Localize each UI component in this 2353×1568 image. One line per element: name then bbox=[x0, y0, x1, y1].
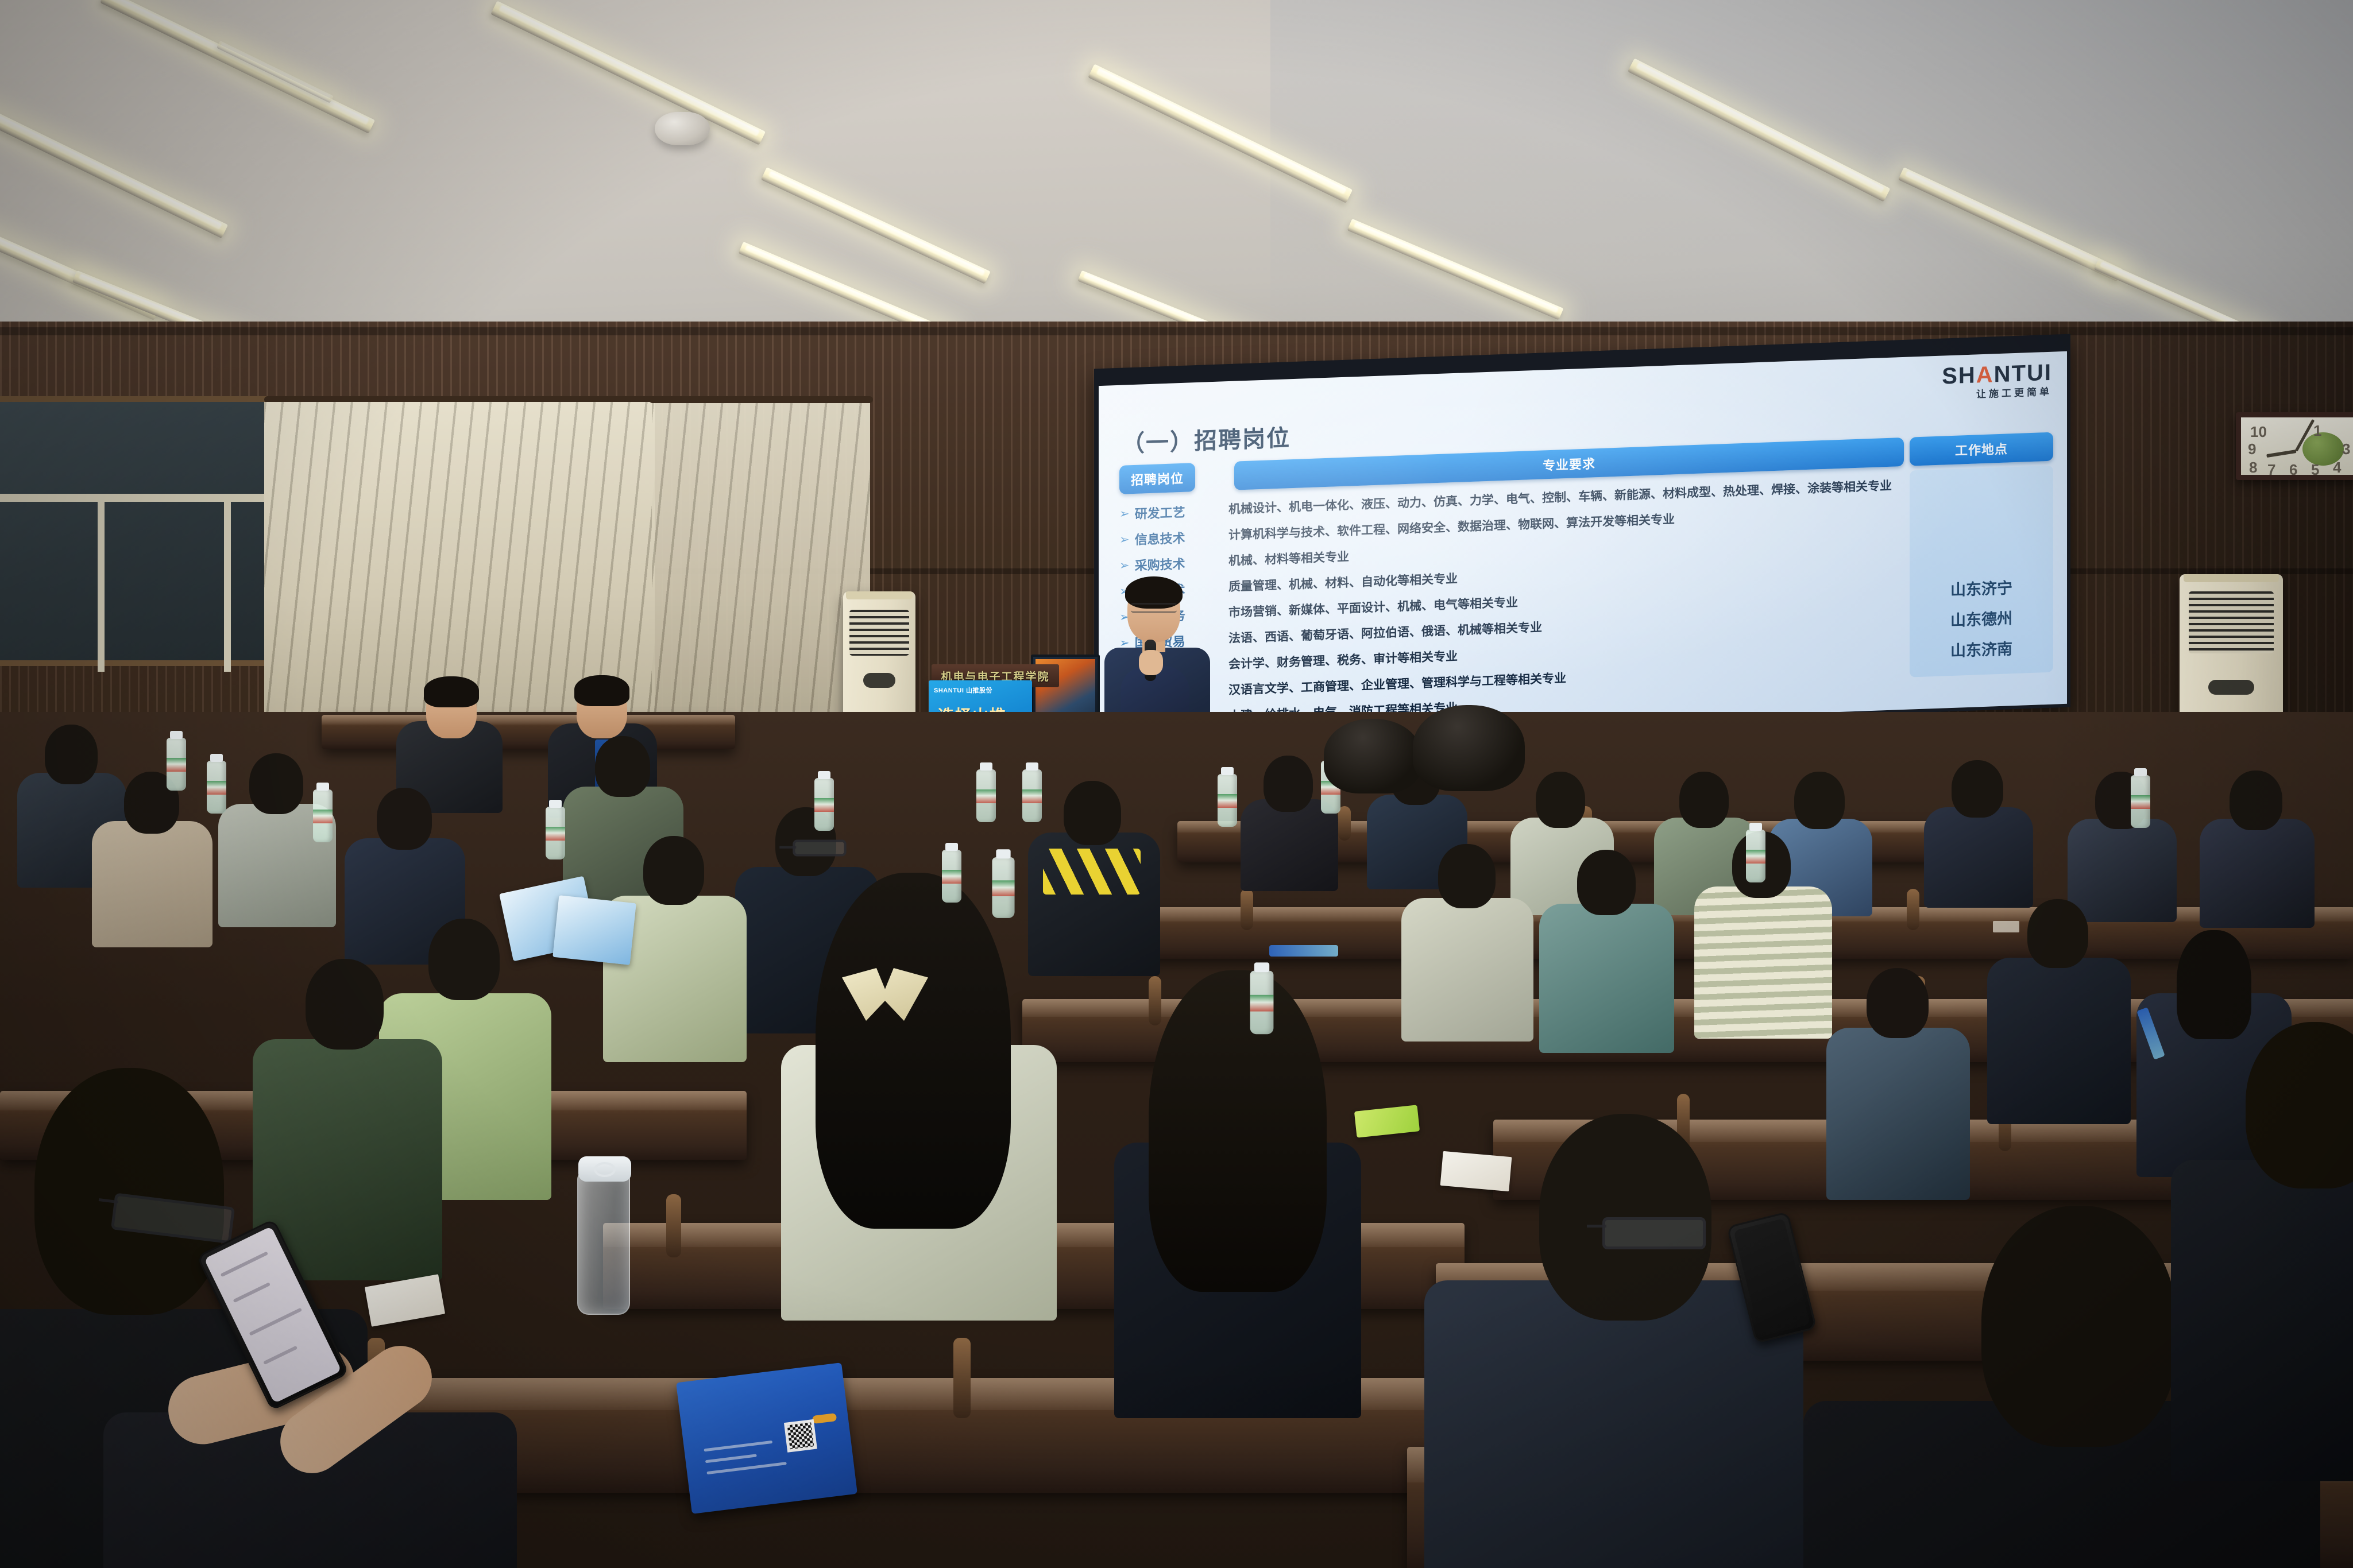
recruitment-leaflet[interactable] bbox=[552, 895, 636, 965]
audience-head bbox=[34, 1068, 224, 1315]
paper-sheet[interactable] bbox=[1440, 1151, 1512, 1191]
audience-head bbox=[428, 919, 500, 1000]
audience-head bbox=[45, 725, 98, 784]
audience-head bbox=[377, 788, 432, 850]
location-list: 山东济宁 山东德州 山东济南 bbox=[1910, 466, 2053, 677]
water-bottle[interactable] bbox=[942, 850, 961, 903]
folder-graphic-line bbox=[704, 1441, 772, 1452]
ac-top-cap bbox=[846, 591, 913, 599]
table-col-location: 工作地点 山东济宁 山东德州 山东济南 bbox=[1910, 432, 2053, 702]
audience-head bbox=[1577, 850, 1636, 915]
folder-tab bbox=[812, 1413, 837, 1424]
phone-text-line bbox=[263, 1346, 297, 1365]
audience-head bbox=[1064, 781, 1121, 845]
water-bottle[interactable] bbox=[167, 738, 186, 791]
ac-display-panel bbox=[2208, 680, 2254, 695]
audience-head bbox=[1536, 772, 1585, 828]
audience-hair-long bbox=[1149, 970, 1327, 1292]
lanyard[interactable] bbox=[1269, 945, 1338, 957]
lecture-hall-photo: 10 9 8 7 6 5 4 3 1 SHANTUI 让施工更简单 （一）招聘岗… bbox=[0, 0, 2353, 1568]
smoke-detector-icon bbox=[655, 112, 710, 145]
ceiling-light-tube bbox=[490, 1, 766, 145]
clock-number: 4 bbox=[2333, 459, 2341, 477]
bottle-cap bbox=[818, 771, 830, 779]
window-curtain bbox=[652, 402, 870, 723]
water-bottle[interactable] bbox=[1250, 971, 1274, 1034]
water-bottle[interactable] bbox=[1746, 830, 1765, 882]
audience-head bbox=[1952, 760, 2003, 818]
window-mullion bbox=[98, 494, 105, 672]
window-mullion bbox=[0, 494, 304, 502]
ceiling-light-tube bbox=[217, 41, 334, 103]
bottle-cap bbox=[210, 754, 223, 762]
row-position-label: 研发工艺 bbox=[1135, 502, 1185, 522]
audience-torso bbox=[1424, 1280, 1803, 1568]
bottle-cap bbox=[1221, 767, 1234, 775]
clock-number: 5 bbox=[2311, 461, 2319, 479]
audience-torso bbox=[92, 821, 212, 947]
row-position: ➢ 采购技术 bbox=[1119, 552, 1228, 575]
ac-grille bbox=[849, 610, 909, 656]
ac-grille bbox=[2189, 591, 2274, 653]
header-position: 招聘岗位 bbox=[1119, 463, 1195, 494]
slide-title: （一）招聘岗位 bbox=[1122, 419, 1291, 459]
audience-torso bbox=[1826, 1028, 1970, 1200]
audience-torso bbox=[2200, 819, 2315, 928]
glass-tumbler[interactable] bbox=[577, 1171, 630, 1315]
audience-torso bbox=[1694, 886, 1832, 1039]
bottle-cap bbox=[945, 843, 958, 851]
water-bottle[interactable] bbox=[313, 789, 333, 842]
clock-number: 7 bbox=[2267, 461, 2275, 479]
audience-hair-long bbox=[2177, 930, 2251, 1039]
window-glass bbox=[0, 402, 304, 660]
audience-head bbox=[1324, 719, 1421, 793]
audience-hair-long bbox=[816, 873, 1011, 1229]
shantui-logo: SHANTUI 让施工更简单 bbox=[1942, 361, 2052, 401]
water-bottle[interactable] bbox=[992, 857, 1014, 918]
water-bottle[interactable] bbox=[814, 778, 834, 831]
bottle-cap bbox=[1254, 962, 1269, 972]
chevron-right-icon: ➢ bbox=[1119, 558, 1130, 573]
clock-hand-hour bbox=[2266, 450, 2296, 458]
chevron-right-icon: ➢ bbox=[1119, 532, 1130, 547]
official-hair bbox=[574, 675, 629, 706]
audience-head bbox=[1413, 705, 1525, 791]
bottle-cap bbox=[1749, 823, 1762, 831]
folder-graphic-line bbox=[706, 1462, 787, 1474]
shantui-brand-text: SHANTUI bbox=[1942, 361, 2052, 388]
bottle-cap bbox=[996, 849, 1010, 858]
curtain-rod bbox=[649, 396, 873, 403]
list-item: 山东德州 bbox=[1950, 606, 2012, 630]
ceiling-light-tube bbox=[0, 104, 228, 238]
audience-torso bbox=[1924, 807, 2033, 908]
bench-post bbox=[953, 1338, 971, 1418]
audience-torso bbox=[2068, 819, 2177, 922]
clock-number: 6 bbox=[2289, 461, 2297, 479]
row-position: ➢ 信息技术 bbox=[1119, 526, 1228, 549]
projector-screen: SHANTUI 让施工更简单 （一）招聘岗位 招聘岗位 专业要求 工作地点 山东… bbox=[1099, 351, 2067, 738]
ac-display-panel bbox=[863, 673, 895, 688]
list-item: 山东济宁 bbox=[1950, 575, 2012, 600]
audience-head bbox=[1794, 772, 1845, 829]
row-position: ➢ 研发工艺 bbox=[1119, 501, 1228, 523]
audience-head bbox=[1438, 844, 1496, 908]
recruitment-folder[interactable] bbox=[676, 1362, 857, 1514]
clock-number: 8 bbox=[2249, 459, 2257, 477]
presenter-glasses bbox=[1131, 603, 1177, 613]
audience-head bbox=[1981, 1206, 2177, 1447]
wall-clock: 10 9 8 7 6 5 4 3 1 bbox=[2236, 412, 2353, 480]
audience-head bbox=[1264, 756, 1313, 812]
clock-number: 3 bbox=[2342, 440, 2350, 458]
header-location: 工作地点 bbox=[1910, 432, 2053, 466]
water-bottle[interactable] bbox=[546, 807, 565, 860]
phone-text-line bbox=[221, 1251, 269, 1277]
window-mullion bbox=[224, 494, 231, 672]
official-hair bbox=[424, 676, 479, 707]
tumbler-handle-ring bbox=[594, 1162, 616, 1177]
clock-number: 10 bbox=[2250, 423, 2267, 441]
row-position-label: 信息技术 bbox=[1135, 528, 1185, 548]
water-bottle[interactable] bbox=[1022, 769, 1042, 822]
clock-number: 1 bbox=[2313, 422, 2321, 440]
front-table bbox=[322, 715, 735, 749]
hiviz-stripe bbox=[1043, 849, 1141, 895]
clock-number: 9 bbox=[2248, 440, 2256, 458]
phone-text-line bbox=[233, 1282, 271, 1303]
window bbox=[0, 396, 310, 666]
list-item: 山东济南 bbox=[1950, 636, 2012, 661]
water-bottle[interactable] bbox=[976, 769, 996, 822]
desk-plate bbox=[1993, 921, 2019, 932]
audience-head bbox=[249, 753, 303, 814]
bench-post bbox=[666, 1194, 681, 1257]
audience-head bbox=[2027, 899, 2088, 968]
row-position-label: 采购技术 bbox=[1135, 554, 1185, 574]
bench-post bbox=[1241, 889, 1253, 930]
water-bottle[interactable] bbox=[1218, 774, 1237, 827]
bottle-cap bbox=[316, 783, 329, 791]
bottle-cap bbox=[2134, 768, 2147, 776]
clock-face: 10 9 8 7 6 5 4 3 1 bbox=[2241, 417, 2353, 475]
bottle-cap bbox=[170, 731, 183, 739]
bench-post bbox=[1907, 889, 1919, 930]
phone-text-line bbox=[249, 1308, 303, 1336]
bench-post bbox=[1149, 976, 1161, 1025]
audience-torso bbox=[1401, 898, 1533, 1042]
standee-brand: SHANTUI 山推股份 bbox=[934, 686, 992, 695]
water-bottle[interactable] bbox=[2131, 775, 2150, 828]
bottle-cap bbox=[980, 762, 992, 771]
presenter-hand bbox=[1139, 650, 1163, 675]
ac-top-cap bbox=[2184, 574, 2279, 582]
eyeglasses bbox=[793, 840, 847, 857]
ceiling-light-tube bbox=[100, 0, 375, 134]
audience-head bbox=[1679, 772, 1729, 828]
chevron-right-icon: ➢ bbox=[1119, 506, 1130, 521]
qr-code-icon bbox=[784, 1419, 817, 1453]
audience-head bbox=[306, 959, 384, 1050]
eyeglasses bbox=[1602, 1217, 1706, 1249]
audience-head bbox=[595, 736, 650, 797]
audience-torso bbox=[1539, 904, 1674, 1053]
audience-head bbox=[1867, 968, 1929, 1038]
audience-head bbox=[643, 836, 704, 905]
ceiling bbox=[0, 0, 2353, 367]
shantui-tagline: 让施工更简单 bbox=[1942, 387, 2052, 401]
audience-torso bbox=[2171, 1160, 2353, 1481]
bottle-cap bbox=[549, 800, 562, 808]
audience-head bbox=[2230, 771, 2282, 830]
audience-torso bbox=[1987, 958, 2131, 1124]
folder-graphic-line bbox=[705, 1454, 757, 1463]
water-bottle[interactable] bbox=[207, 761, 226, 814]
bench-post bbox=[1338, 806, 1351, 841]
bottle-cap bbox=[1026, 762, 1038, 771]
